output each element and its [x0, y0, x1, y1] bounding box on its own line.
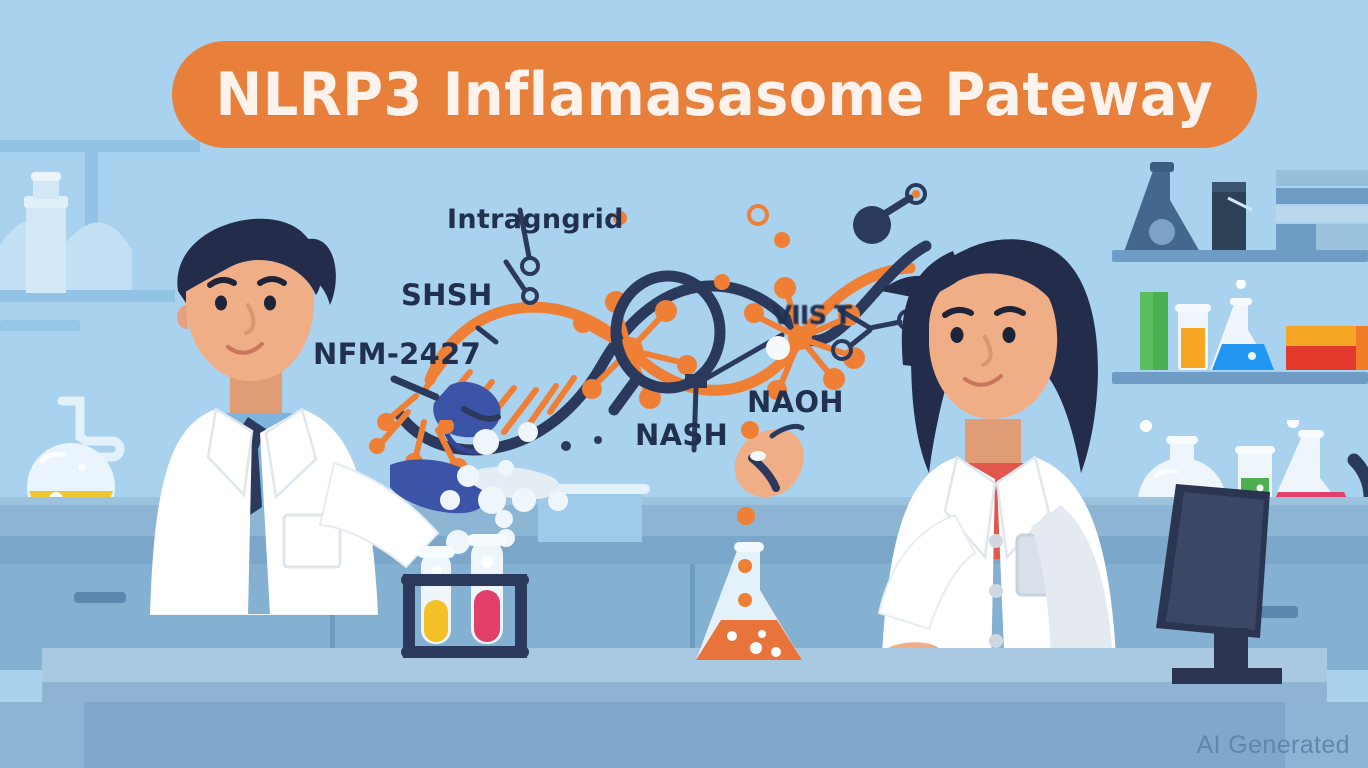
- label-intragngrid: Intragngrid: [447, 204, 624, 235]
- ai-generated-watermark: AI Generated: [1196, 731, 1350, 760]
- counter-left-shadow: [0, 702, 84, 768]
- monitor-stand-base: [1172, 668, 1282, 684]
- title-banner: NLRP3 Inflamasasome Pateway: [172, 41, 1257, 148]
- counter-front: [82, 702, 1287, 768]
- label-viis-t: VIIS T: [772, 301, 851, 331]
- computer-monitor: [1110, 478, 1300, 688]
- center-flask: [688, 540, 814, 670]
- rack-bubbles: [488, 487, 578, 542]
- cabinet-handle: [74, 592, 126, 603]
- page-title: NLRP3 Inflamasasome Pateway: [216, 60, 1214, 130]
- monitor-stand-neck: [1214, 628, 1248, 674]
- helix-loop: [606, 270, 746, 420]
- illustration-canvas: Intragngrid SHSH NFM-2427 VIIS T NAOH NA…: [0, 0, 1368, 768]
- test-tube-rack: [393, 528, 568, 663]
